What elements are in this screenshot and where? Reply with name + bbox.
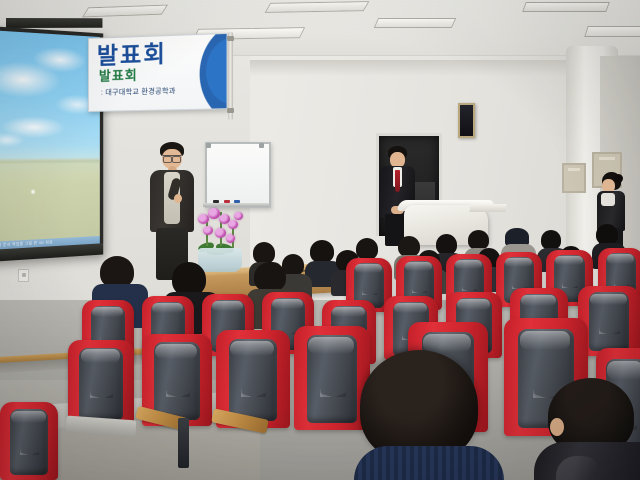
seat-emboss — [362, 276, 378, 294]
seat-highlight — [11, 411, 46, 423]
seat-emboss — [412, 274, 428, 292]
lectern-side-shelf — [469, 204, 506, 212]
audience-head — [398, 236, 420, 257]
auditorium-seat[interactable] — [68, 340, 134, 426]
navy-ribbed-sweater — [354, 446, 504, 480]
audience-head — [253, 242, 275, 264]
lecture-hall-photo: 시작 문서 작업중 그림 판 3D 자료 발표회 발표회 : 대구대학교 환경공… — [0, 0, 640, 480]
wall-speaker-icon — [458, 103, 475, 138]
whiteboard-corner-tl — [206, 143, 211, 148]
seat-highlight — [457, 299, 491, 310]
seat-emboss — [512, 271, 528, 290]
banner-headline: 발표회 — [97, 41, 167, 69]
projected-image — [0, 30, 100, 250]
armrest-post — [178, 418, 189, 468]
glasses-icon — [163, 155, 181, 161]
seat-emboss — [562, 269, 578, 288]
banner-rail-clip-bottom — [227, 108, 234, 113]
seat-highlight — [394, 303, 426, 313]
seat-highlight — [155, 344, 197, 359]
audience-head — [254, 262, 286, 292]
ceiling-light-5 — [522, 2, 610, 12]
seat-highlight — [355, 264, 383, 273]
foreground-man — [548, 378, 640, 480]
banner-swoosh-graphic-inner — [179, 38, 228, 105]
seat-highlight — [230, 341, 274, 357]
seat-highlight — [555, 256, 583, 265]
banner-rail — [228, 32, 233, 120]
wall-outlet — [18, 269, 29, 282]
seat-highlight — [405, 262, 433, 271]
auditorium-seat[interactable] — [0, 402, 58, 480]
ceiling-light-3 — [265, 1, 370, 13]
seat-highlight — [212, 301, 243, 311]
standing-woman-scarf — [601, 193, 615, 206]
whiteboard — [205, 142, 271, 208]
orchid-bloom-7 — [226, 234, 235, 243]
necktie — [395, 170, 400, 192]
seat-emboss — [320, 361, 346, 396]
screen-mount-bar — [6, 18, 102, 28]
seat-emboss — [614, 268, 630, 288]
standing-woman-hair-bun — [614, 174, 623, 183]
seat-highlight — [521, 295, 556, 306]
audience-head — [596, 224, 618, 245]
orchid-bloom-8 — [234, 212, 243, 220]
audience-head — [172, 262, 206, 296]
seat-highlight — [455, 260, 483, 269]
banner-affiliation: : 대구대학교 환경공학과 — [101, 87, 176, 98]
seat-highlight — [505, 258, 533, 267]
audience-head — [468, 230, 489, 250]
orchid-bloom-1 — [198, 214, 209, 224]
seat-emboss — [100, 321, 118, 342]
seat-emboss — [241, 363, 266, 396]
whiteboard-marker-black — [213, 200, 219, 203]
seat-emboss — [599, 310, 620, 334]
whiteboard-marker-red — [224, 200, 230, 203]
ceiling-light-4 — [374, 18, 456, 28]
seat-emboss — [166, 365, 190, 396]
banner-subheadline: 발표회 — [99, 68, 138, 84]
audience-head — [310, 240, 334, 263]
seat-highlight — [520, 331, 570, 350]
auditorium-seat[interactable] — [294, 326, 370, 430]
orchid-bloom-6 — [215, 228, 226, 238]
whiteboard-corner-tr — [259, 143, 264, 148]
seat-highlight — [332, 307, 364, 317]
orchid-bloom-5 — [203, 226, 213, 235]
seat-highlight — [92, 307, 123, 317]
seat-emboss — [462, 272, 478, 290]
notice-board-1 — [562, 163, 586, 193]
seat-highlight — [607, 254, 635, 263]
ceiling-light-6 — [584, 26, 640, 37]
orchid-bloom-4 — [228, 220, 238, 229]
whiteboard-marker-tray — [203, 203, 269, 207]
seat-emboss — [20, 429, 40, 456]
foreground-woman — [360, 350, 510, 480]
whiteboard-marker-blue — [234, 200, 240, 203]
seat-highlight — [308, 337, 354, 354]
seat-emboss — [90, 369, 112, 398]
seat-highlight — [81, 349, 121, 363]
banner-rail-clip-top — [227, 36, 234, 41]
seat-highlight — [152, 303, 183, 313]
presenter-hand — [174, 194, 182, 203]
event-banner: 발표회 발표회 : 대구대학교 환경공학과 — [88, 33, 228, 112]
seat-highlight — [272, 299, 303, 309]
audience-head — [541, 230, 561, 250]
foreground-man-ear — [550, 418, 564, 436]
seat-highlight — [590, 294, 627, 305]
